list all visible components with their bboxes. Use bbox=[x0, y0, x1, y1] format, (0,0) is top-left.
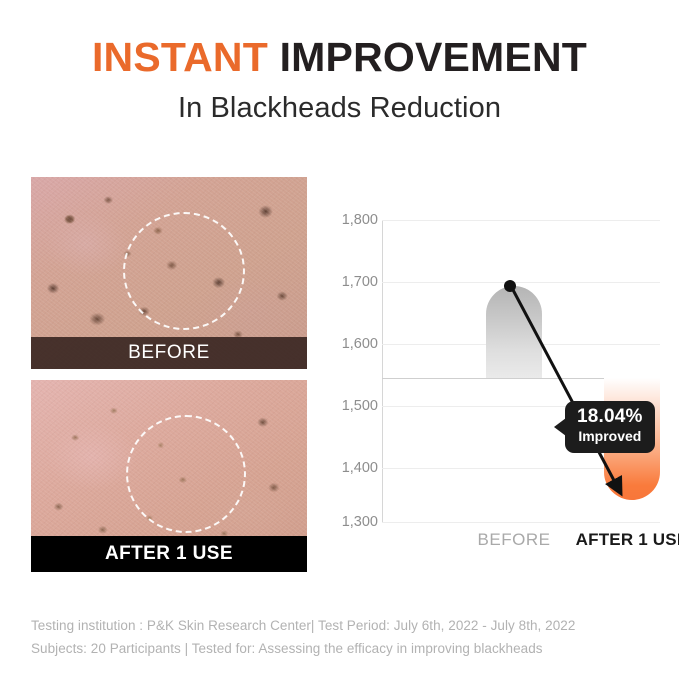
x-axis-labels: BEFORE AFTER 1 USE bbox=[382, 530, 660, 558]
footnote-line-2: Subjects: 20 Participants | Tested for: … bbox=[31, 637, 651, 660]
improvement-callout-badge: 18.04% Improved bbox=[565, 401, 655, 453]
plot-area bbox=[382, 196, 660, 526]
before-photo-caption: BEFORE bbox=[31, 337, 307, 369]
after-photo: AFTER 1 USE bbox=[31, 380, 307, 572]
comparison-photos: BEFORE AFTER 1 USE bbox=[31, 177, 307, 572]
footnote-line-1: Testing institution : P&K Skin Research … bbox=[31, 614, 651, 637]
improvement-label: Improved bbox=[577, 428, 643, 445]
blackheads-bar-chart: 1,800 1,700 1,600 1,500 1,400 1,300 BEFO… bbox=[330, 196, 660, 556]
improvement-arrow bbox=[382, 196, 660, 526]
x-tick-label-before: BEFORE bbox=[478, 530, 551, 550]
after-photo-caption: AFTER 1 USE bbox=[31, 536, 307, 572]
y-tick-label: 1,300 bbox=[342, 514, 378, 530]
y-tick-label: 1,500 bbox=[342, 398, 378, 414]
dashed-circle-icon bbox=[126, 415, 246, 533]
y-axis-labels: 1,800 1,700 1,600 1,500 1,400 1,300 bbox=[330, 196, 378, 526]
y-tick-label: 1,600 bbox=[342, 336, 378, 352]
x-tick-label-after: AFTER 1 USE bbox=[576, 530, 679, 550]
dashed-circle-icon bbox=[123, 212, 245, 330]
study-footnote: Testing institution : P&K Skin Research … bbox=[31, 614, 651, 660]
page-subtitle: In Blackheads Reduction bbox=[0, 92, 679, 125]
header: INSTANT IMPROVEMENT In Blackheads Reduct… bbox=[0, 36, 679, 125]
title-rest: IMPROVEMENT bbox=[268, 34, 587, 80]
before-photo: BEFORE bbox=[31, 177, 307, 369]
page-title: INSTANT IMPROVEMENT bbox=[0, 36, 679, 79]
title-accent-word: INSTANT bbox=[92, 34, 268, 80]
y-tick-label: 1,400 bbox=[342, 460, 378, 476]
y-tick-label: 1,800 bbox=[342, 212, 378, 228]
y-tick-label: 1,700 bbox=[342, 274, 378, 290]
improvement-percent: 18.04% bbox=[577, 407, 643, 427]
